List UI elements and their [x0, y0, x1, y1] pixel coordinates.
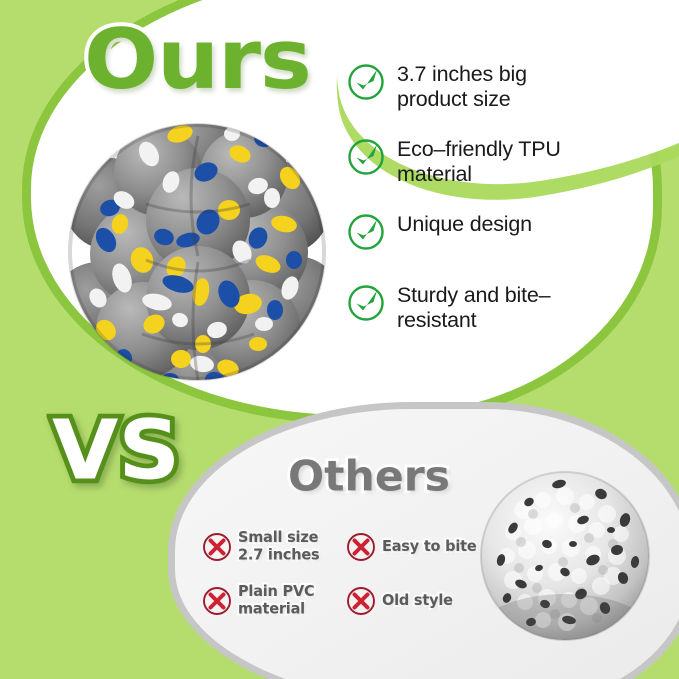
con-label: Easy to bite [382, 538, 476, 556]
list-item: 3.7 inches big product size [347, 62, 597, 112]
check-circle-icon [347, 213, 385, 251]
others-con-list: Small size 2.7 inches Easy to bite Plain… [202, 523, 482, 625]
comparison-infographic: Ours [0, 0, 679, 679]
ours-product-image [62, 112, 332, 384]
vs-label: VS [52, 404, 180, 499]
list-item: Old style [346, 577, 482, 625]
x-circle-icon [346, 532, 376, 562]
others-title: Others [288, 452, 450, 500]
list-item: Small size 2.7 inches [202, 523, 338, 571]
x-circle-icon [202, 586, 232, 616]
check-circle-icon [347, 138, 385, 176]
ours-feature-list: 3.7 inches big product size Eco–friendly… [347, 62, 597, 358]
con-label: Small size 2.7 inches [238, 529, 338, 565]
feature-label: Unique design [397, 212, 532, 237]
list-item: Unique design [347, 212, 597, 258]
list-item: Sturdy and bite–resistant [347, 283, 597, 333]
list-item: Easy to bite [346, 523, 482, 571]
feature-label: 3.7 inches big product size [397, 62, 597, 112]
check-circle-icon [347, 284, 385, 322]
x-circle-icon [346, 586, 376, 616]
list-item: Eco–friendly TPU material [347, 137, 597, 187]
con-label: Plain PVC material [238, 583, 338, 619]
check-circle-icon [347, 63, 385, 101]
list-item: Plain PVC material [202, 577, 338, 625]
ours-title: Ours [84, 12, 311, 108]
feature-label: Sturdy and bite–resistant [397, 283, 597, 333]
feature-label: Eco–friendly TPU material [397, 137, 597, 187]
others-product-image [477, 468, 653, 644]
con-label: Old style [382, 592, 453, 610]
x-circle-icon [202, 532, 232, 562]
